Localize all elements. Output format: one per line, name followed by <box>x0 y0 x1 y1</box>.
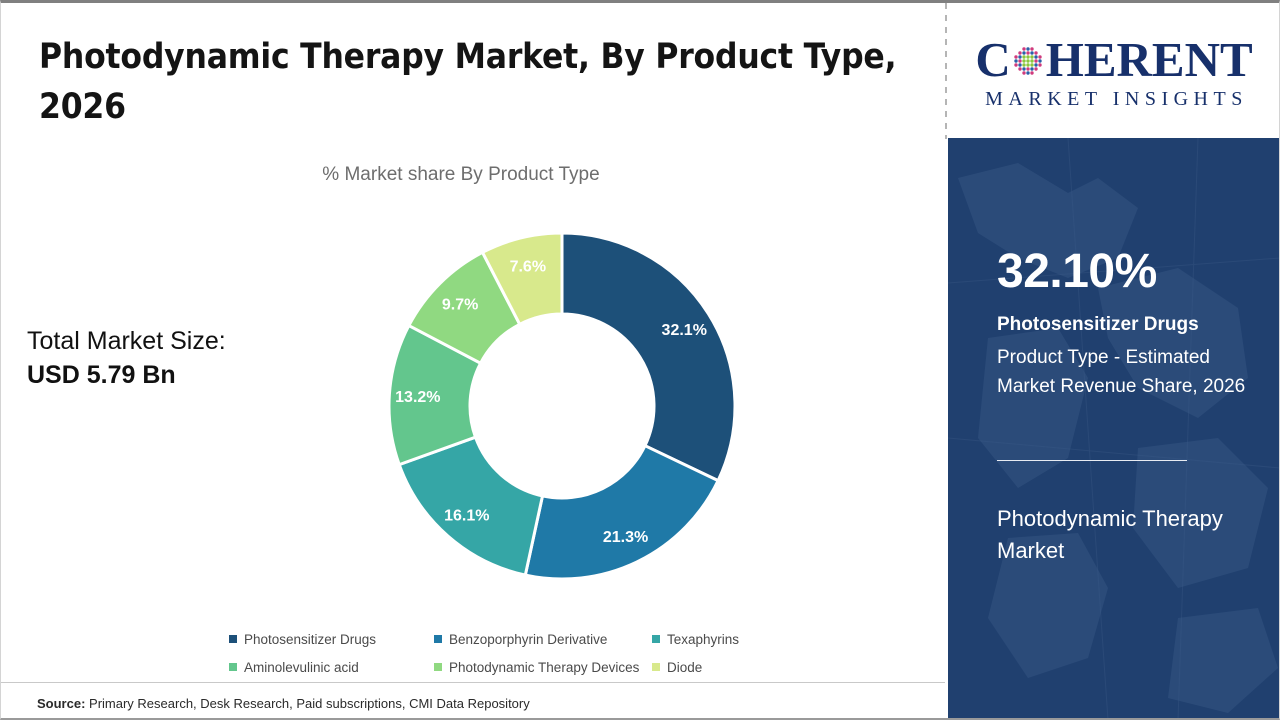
donut-chart: 32.1%21.3%16.1%13.2%9.7%7.6% <box>386 230 738 582</box>
sidebar-divider <box>997 460 1187 461</box>
legend-item-texaphyrins[interactable]: Texaphyrins <box>652 632 739 647</box>
panel-separator <box>945 3 947 139</box>
legend-item-aminolevulinic-acid[interactable]: Aminolevulinic acid <box>229 660 434 675</box>
donut-slice-label: 13.2% <box>395 389 440 406</box>
logo-wordmark: C HERENT <box>975 35 1252 84</box>
stat-description: Product Type - Estimated Market Revenue … <box>997 338 1249 402</box>
market-name: Photodynamic Therapy Market <box>997 503 1247 567</box>
legend-swatch-icon <box>229 663 237 671</box>
legend-item-photodynamic-therapy-devices[interactable]: Photodynamic Therapy Devices <box>434 660 652 675</box>
source-line: Source: Primary Research, Desk Research,… <box>37 696 530 711</box>
stat-percent: 32.10% <box>997 248 1157 296</box>
footer-divider <box>1 682 945 683</box>
chart-legend: Photosensitizer Drugs Benzoporphyrin Der… <box>229 625 789 681</box>
legend-swatch-icon <box>652 663 660 671</box>
legend-row: Aminolevulinic acid Photodynamic Therapy… <box>229 653 789 681</box>
donut-slice[interactable] <box>562 233 735 481</box>
donut-chart-svg: 32.1%21.3%16.1%13.2%9.7%7.6% <box>386 230 738 582</box>
legend-item-diode[interactable]: Diode <box>652 660 702 675</box>
logo-tagline: MARKET INSIGHTS <box>980 88 1248 111</box>
legend-label: Aminolevulinic acid <box>244 660 359 675</box>
total-market-size-label: Total Market Size: <box>27 325 327 359</box>
donut-slice-label: 9.7% <box>442 297 478 314</box>
infographic-page: Photodynamic Therapy Market, By Product … <box>0 0 1280 720</box>
donut-slice-label: 7.6% <box>510 259 546 276</box>
legend-row: Photosensitizer Drugs Benzoporphyrin Der… <box>229 625 789 653</box>
total-market-size-block: Total Market Size: USD 5.79 Bn <box>27 325 327 393</box>
legend-label: Photosensitizer Drugs <box>244 632 376 647</box>
logo-letter-c: C <box>975 35 1010 84</box>
brand-logo: C HERENT MARKET INSIGHTS <box>975 35 1252 111</box>
logo-letters-rest: HERENT <box>1046 35 1253 84</box>
legend-swatch-icon <box>229 635 237 643</box>
legend-label: Diode <box>667 660 702 675</box>
stat-category: Photosensitizer Drugs <box>997 313 1199 337</box>
donut-slice-group <box>389 233 735 579</box>
logo-panel: C HERENT MARKET INSIGHTS <box>948 3 1280 138</box>
legend-label: Photodynamic Therapy Devices <box>449 660 639 675</box>
source-text: Primary Research, Desk Research, Paid su… <box>89 696 530 711</box>
donut-slice-label: 21.3% <box>603 529 648 546</box>
source-label: Source: <box>37 696 85 711</box>
legend-swatch-icon <box>652 635 660 643</box>
legend-swatch-icon <box>434 635 442 643</box>
legend-label: Benzoporphyrin Derivative <box>449 632 607 647</box>
page-title: Photodynamic Therapy Market, By Product … <box>39 33 919 132</box>
main-panel: Photodynamic Therapy Market, By Product … <box>1 3 945 720</box>
chart-subtitle: % Market share By Product Type <box>1 164 921 186</box>
legend-item-photosensitizer-drugs[interactable]: Photosensitizer Drugs <box>229 632 434 647</box>
donut-slice-label: 32.1% <box>662 322 707 339</box>
total-market-size-value: USD 5.79 Bn <box>27 359 327 393</box>
donut-slice[interactable] <box>525 446 718 579</box>
legend-swatch-icon <box>434 663 442 671</box>
sidebar-content: 32.10% Photosensitizer Drugs Product Typ… <box>997 138 1259 720</box>
legend-item-benzoporphyrin-derivative[interactable]: Benzoporphyrin Derivative <box>434 632 652 647</box>
legend-label: Texaphyrins <box>667 632 739 647</box>
globe-dots-icon <box>1011 37 1045 86</box>
sidebar-info-panel: 32.10% Photosensitizer Drugs Product Typ… <box>948 138 1280 720</box>
donut-slice-label: 16.1% <box>444 508 489 525</box>
